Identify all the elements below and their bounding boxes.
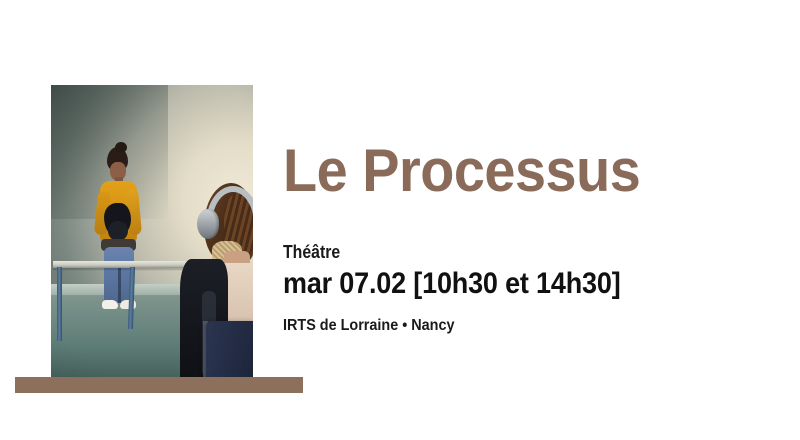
event-meta: Théâtre mar 07.02 [10h30 et 14h30] IRTS … bbox=[283, 242, 783, 335]
held-object-detail bbox=[108, 221, 128, 241]
standing-person-leg-gap bbox=[118, 265, 121, 303]
standing-person-left-shoe bbox=[102, 300, 118, 309]
headphone-earcup bbox=[197, 209, 219, 239]
table-leg bbox=[57, 267, 62, 341]
event-date-times: mar 07.02 [10h30 et 14h30] bbox=[283, 267, 733, 301]
standing-person bbox=[94, 147, 144, 317]
classroom-table-top bbox=[53, 261, 205, 268]
accent-bar bbox=[15, 377, 303, 393]
event-venue: IRTS de Lorraine • Nancy bbox=[283, 317, 733, 335]
classroom-photo bbox=[51, 85, 253, 377]
event-category: Théâtre bbox=[283, 242, 723, 262]
standing-person-bun bbox=[115, 142, 127, 153]
event-text-block: Le Processus Théâtre mar 07.02 [10h30 et… bbox=[283, 140, 783, 335]
event-photo bbox=[51, 85, 253, 377]
chair-back bbox=[206, 321, 253, 377]
page-title: Le Processus bbox=[283, 140, 748, 202]
event-poster-card: Le Processus Théâtre mar 07.02 [10h30 et… bbox=[0, 0, 800, 440]
